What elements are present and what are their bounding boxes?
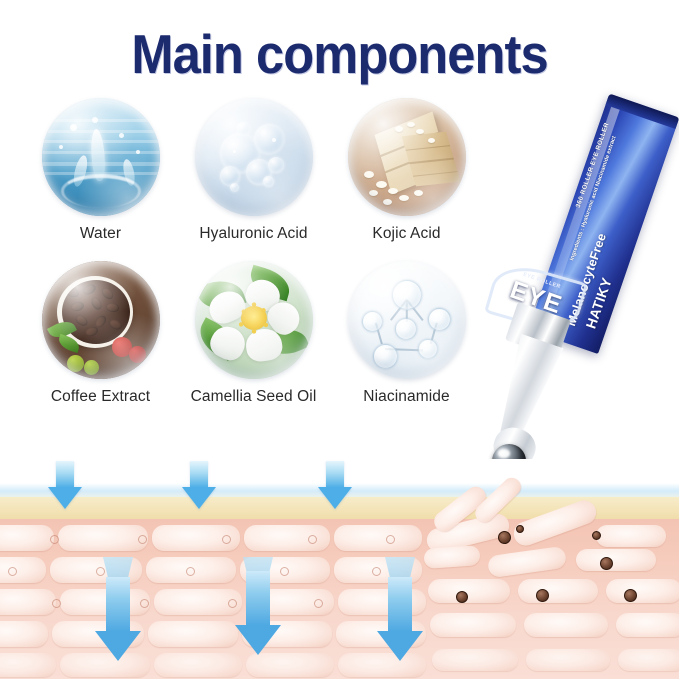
absorption-arrow bbox=[95, 577, 141, 661]
white-flower-sphere-icon bbox=[195, 261, 313, 379]
ingredient-row-2: Coffee Extract Camellia Seed Oil bbox=[24, 261, 484, 406]
absorption-arrow bbox=[182, 461, 216, 509]
absorption-arrow bbox=[377, 577, 423, 661]
ingredient-item-water: Water bbox=[24, 98, 177, 243]
absorption-arrow bbox=[318, 461, 352, 509]
ingredient-item-coffee-extract: Coffee Extract bbox=[24, 261, 177, 406]
absorption-arrow bbox=[235, 571, 281, 655]
water-splash-sphere-icon bbox=[42, 98, 160, 216]
ingredient-item-niacinamide: Niacinamide bbox=[330, 261, 483, 406]
ingredient-item-hyaluronic-acid: Hyaluronic Acid bbox=[177, 98, 330, 243]
bubble-cluster-sphere-icon bbox=[195, 98, 313, 216]
ingredient-item-kojic-acid: Kojic Acid bbox=[330, 98, 483, 243]
ingredient-row-1: Water Hyaluronic Acid bbox=[24, 98, 484, 243]
page-title: Main components bbox=[27, 22, 652, 86]
molecule-sphere-icon bbox=[348, 261, 466, 379]
ingredient-label: Kojic Acid bbox=[372, 225, 440, 243]
ingredient-label: Coffee Extract bbox=[51, 388, 150, 406]
ingredient-label: Water bbox=[80, 225, 121, 243]
infographic-canvas: Main components Water bbox=[0, 0, 679, 679]
ingredient-grid: Water Hyaluronic Acid bbox=[24, 98, 484, 406]
tube-seal bbox=[606, 94, 679, 129]
skin-cross-section-diagram bbox=[0, 459, 679, 679]
ingredient-item-camellia-seed-oil: Camellia Seed Oil bbox=[177, 261, 330, 406]
absorption-arrow bbox=[48, 461, 82, 509]
ingredient-label: Camellia Seed Oil bbox=[191, 388, 317, 406]
ingredient-label: Hyaluronic Acid bbox=[199, 225, 307, 243]
product-tube: 360 ROLLER EYE ROLLER Ingredients : Hyal… bbox=[468, 92, 679, 512]
coffee-beans-bowl-sphere-icon bbox=[42, 261, 160, 379]
ingredient-label: Niacinamide bbox=[363, 388, 449, 406]
rice-masu-box-sphere-icon bbox=[348, 98, 466, 216]
